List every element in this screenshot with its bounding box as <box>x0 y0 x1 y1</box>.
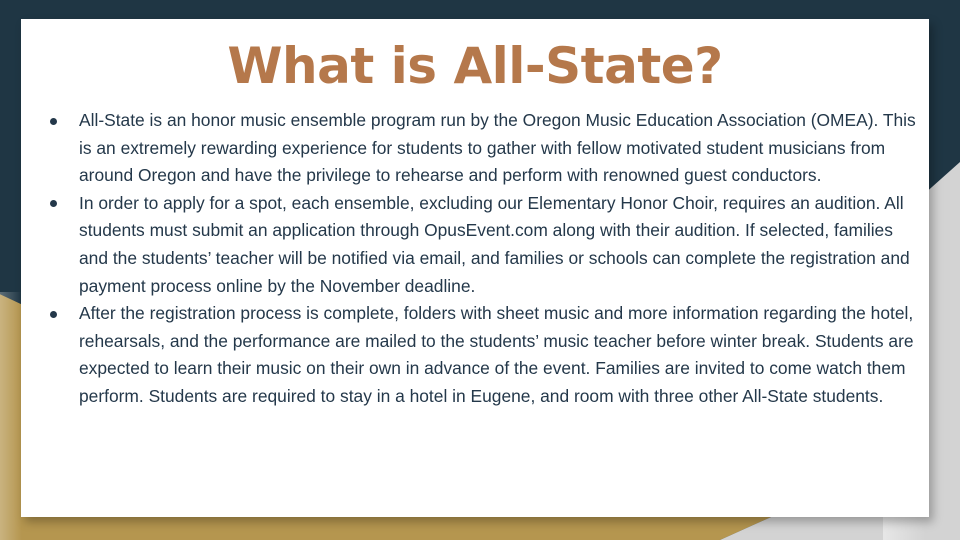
bullet-dot-icon <box>50 118 57 125</box>
bullet-dot-icon <box>50 311 57 318</box>
bullet-list: All-State is an honor music ensemble pro… <box>21 93 929 411</box>
list-item: In order to apply for a spot, each ensem… <box>33 190 919 300</box>
list-item-text: After the registration process is comple… <box>79 303 914 406</box>
page-title: What is All-State? <box>21 19 929 93</box>
list-item: All-State is an honor music ensemble pro… <box>33 107 919 190</box>
list-item-text: In order to apply for a spot, each ensem… <box>79 193 910 296</box>
list-item: After the registration process is comple… <box>33 300 919 410</box>
slide-content-card: What is All-State? All-State is an honor… <box>21 19 929 517</box>
presentation-slide: What is All-State? All-State is an honor… <box>0 0 960 540</box>
list-item-text: All-State is an honor music ensemble pro… <box>79 110 916 185</box>
bullet-dot-icon <box>50 200 57 207</box>
